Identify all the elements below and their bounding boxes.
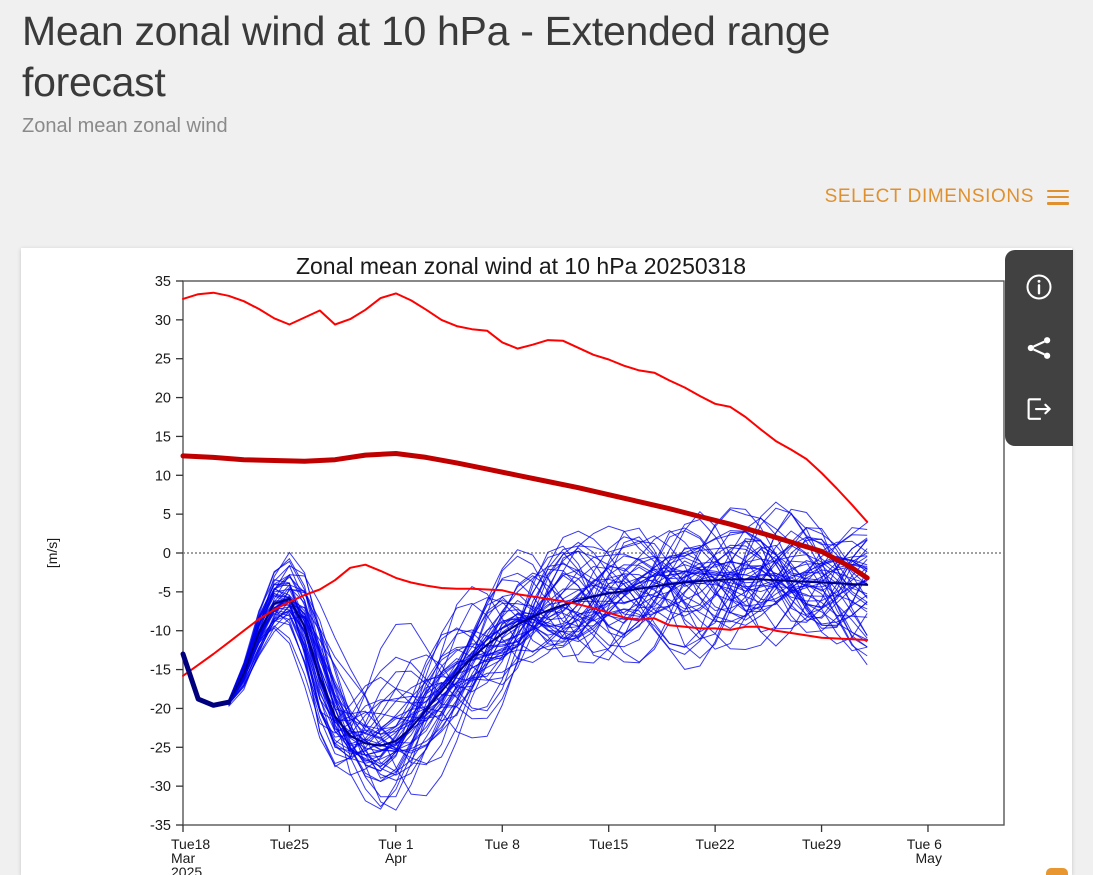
chart-side-toolbar xyxy=(1005,250,1073,446)
y-tick-label: 0 xyxy=(163,546,171,562)
y-tick-label: -30 xyxy=(150,779,171,795)
y-tick-label: -35 xyxy=(150,818,171,834)
series-line xyxy=(183,654,229,705)
y-tick-label: 35 xyxy=(155,274,171,290)
page-title: Mean zonal wind at 10 hPa - Extended ran… xyxy=(0,0,974,109)
ensemble-members-group xyxy=(229,502,868,810)
y-tick-label: -25 xyxy=(150,740,171,756)
page-root: Mean zonal wind at 10 hPa - Extended ran… xyxy=(0,0,1093,875)
y-tick-label: -5 xyxy=(158,585,171,601)
page-subtitle: Zonal mean zonal wind xyxy=(0,109,1093,138)
share-icon[interactable] xyxy=(1019,328,1059,368)
page-header: Mean zonal wind at 10 hPa - Extended ran… xyxy=(0,0,1093,138)
export-icon[interactable] xyxy=(1019,389,1059,429)
y-tick-label: -20 xyxy=(150,701,171,717)
x-tick-label: May xyxy=(916,850,942,866)
info-icon[interactable] xyxy=(1019,267,1059,307)
x-tick-label: Tue25 xyxy=(270,836,309,852)
y-tick-label: 25 xyxy=(155,352,171,368)
x-tick-label: Tue15 xyxy=(589,836,628,852)
select-dimensions-label: SELECT DIMENSIONS xyxy=(825,186,1034,208)
plot-container: Zonal mean zonal wind at 10 hPa 20250318… xyxy=(21,248,1021,875)
y-tick-label: -15 xyxy=(150,663,171,679)
x-tick-label: Apr xyxy=(385,850,407,866)
y-tick-label: 15 xyxy=(155,429,171,445)
series-line xyxy=(183,293,867,522)
y-tick-label: 20 xyxy=(155,391,171,407)
chart-svg: 35302520151050-5-10-15-20-25-30-35[m/s]T… xyxy=(21,248,1021,875)
y-axis-label: [m/s] xyxy=(44,538,60,568)
y-tick-label: 5 xyxy=(163,507,171,523)
x-tick-label: Tue29 xyxy=(802,836,841,852)
select-dimensions-button[interactable]: SELECT DIMENSIONS xyxy=(825,186,1069,208)
x-tick-label: Tue22 xyxy=(696,836,735,852)
x-tick-label: 2025 xyxy=(171,864,202,875)
y-tick-label: -10 xyxy=(150,624,171,640)
chart-card: Zonal mean zonal wind at 10 hPa 20250318… xyxy=(21,248,1072,875)
y-tick-label: 10 xyxy=(155,468,171,484)
y-tick-label: 30 xyxy=(155,313,171,329)
hamburger-icon[interactable] xyxy=(1047,190,1069,205)
x-tick-label: Tue 8 xyxy=(485,836,520,852)
floating-action-nub[interactable] xyxy=(1046,868,1068,875)
